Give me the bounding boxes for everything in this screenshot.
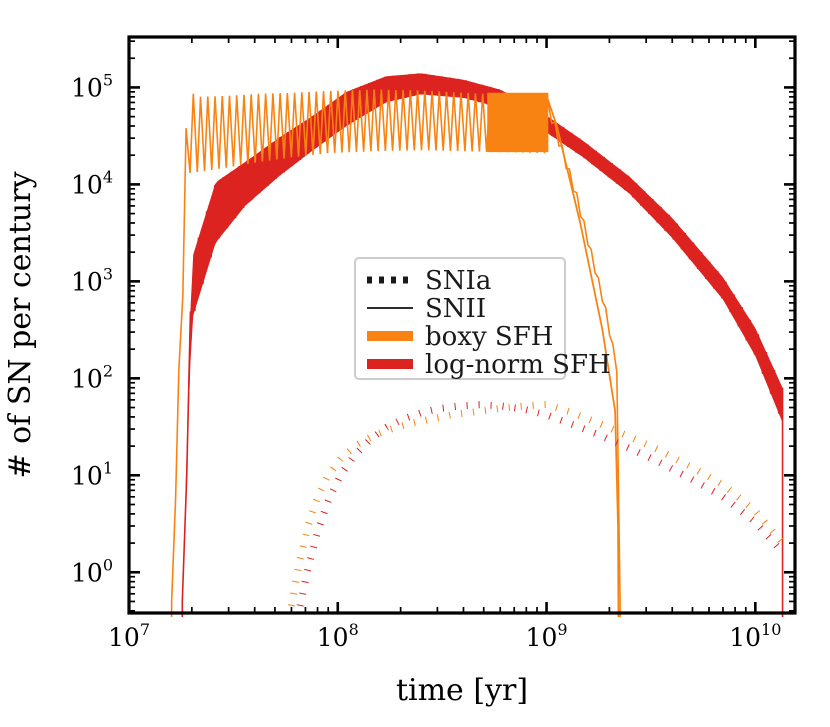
legend-label: SNIa (425, 266, 491, 296)
x-axis-title: time [yr] (396, 673, 528, 708)
legend-label: SNII (425, 294, 486, 324)
figure-container: 1071081091010100101102103104105 SNIaSNII… (0, 0, 830, 727)
snii-boxy-plateau-block (487, 93, 548, 152)
y-axis-title: # of SN per century (3, 171, 38, 478)
legend-label: log-norm SFH (425, 350, 611, 380)
legend-label: boxy SFH (425, 322, 553, 352)
sn-rate-plot: 1071081091010100101102103104105 SNIaSNII… (0, 0, 830, 727)
